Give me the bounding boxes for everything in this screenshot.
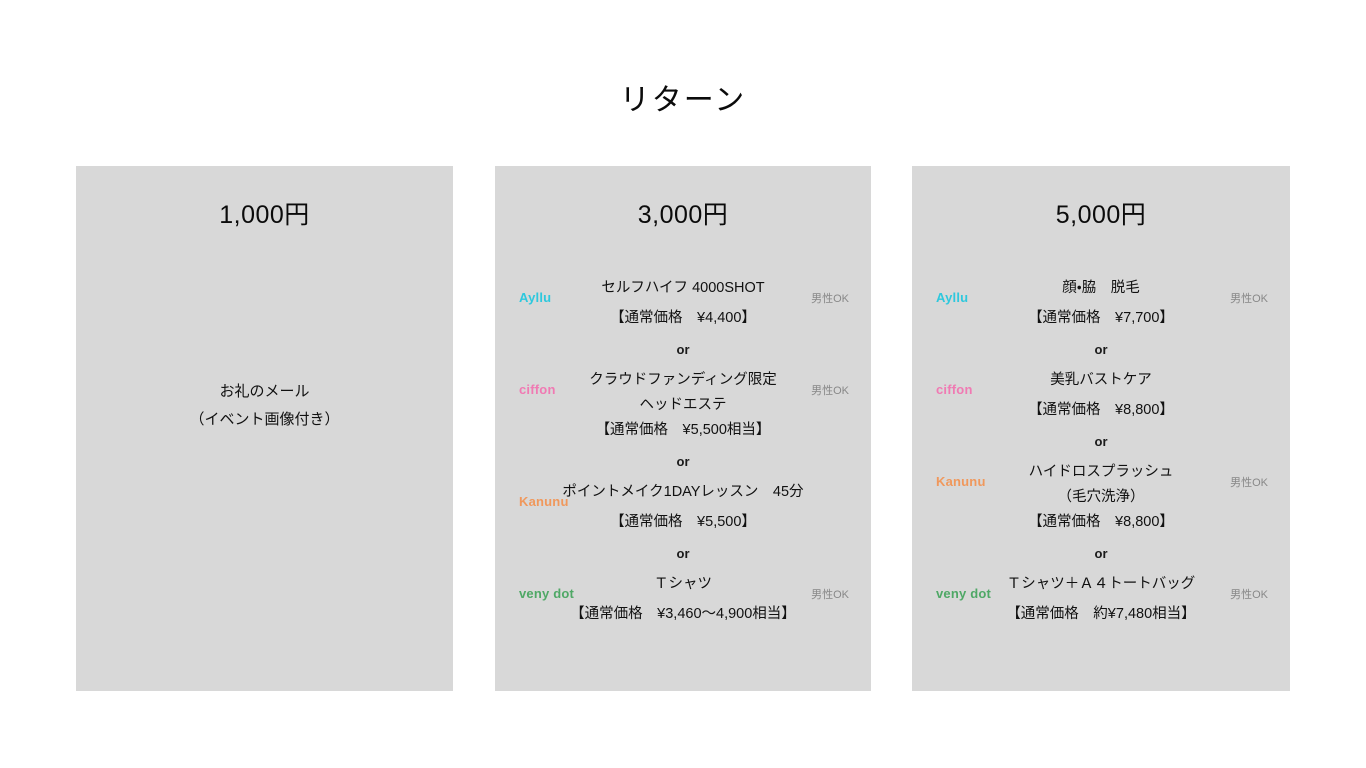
reward-title: ポイントメイク1DAYレッスン 45分 — [544, 480, 822, 505]
brand-label: ciffon — [936, 382, 973, 397]
reward-item: Ayllu男性OK顔・脇 脱毛【通常価格 ¥7,700】 — [922, 276, 1280, 331]
reward-title-line: セルフハイフ 4000SHOT — [544, 276, 822, 301]
brand-label: Kanunu — [519, 494, 569, 509]
reward-row: Ayllu男性OK顔・脇 脱毛 — [922, 276, 1280, 306]
reward-card-1000: 1,000円 お礼のメール （イベント画像付き） — [76, 166, 453, 691]
card-simple-body: お礼のメール （イベント画像付き） — [76, 378, 453, 434]
reward-price: 【通常価格 ¥3,460〜4,900相当】 — [505, 602, 861, 627]
reward-title-line: クラウドファンディング限定 — [544, 368, 822, 393]
reward-card-3000: 3,000円 Ayllu男性OKセルフハイフ 4000SHOT【通常価格 ¥4,… — [495, 166, 871, 691]
reward-price: 【通常価格 ¥8,800】 — [922, 510, 1280, 535]
or-separator: or — [922, 340, 1280, 360]
brand-label: Kanunu — [936, 474, 986, 489]
reward-row: ciffon男性OKクラウドファンディング限定ヘッドエステ — [505, 368, 861, 418]
card-amount: 1,000円 — [76, 198, 453, 232]
or-separator: or — [922, 544, 1280, 564]
male-ok-badge: 男性OK — [811, 290, 849, 306]
reward-price: 【通常価格 ¥5,500相当】 — [505, 418, 861, 443]
reward-title: 美乳バストケア — [961, 368, 1240, 393]
reward-title-line: （毛穴洗浄） — [961, 485, 1240, 510]
reward-price: 【通常価格 ¥5,500】 — [505, 510, 861, 535]
page-title: リターン — [0, 80, 1366, 122]
reward-title-line: Ｔシャツ — [544, 572, 822, 597]
male-ok-badge: 男性OK — [1230, 586, 1268, 602]
brand-label: Ayllu — [519, 290, 551, 305]
reward-row: veny dot男性OKＴシャツ＋Ａ４トートバッグ — [922, 572, 1280, 602]
brand-label: Ayllu — [936, 290, 968, 305]
reward-title: Ｔシャツ — [544, 572, 822, 597]
reward-item: ciffon美乳バストケア【通常価格 ¥8,800】 — [922, 368, 1280, 423]
reward-title-line: 顔・脇 脱毛 — [961, 276, 1240, 301]
reward-item: veny dot男性OKＴシャツ＋Ａ４トートバッグ【通常価格 約¥7,480相当… — [922, 572, 1280, 627]
reward-row: Kanunuポイントメイク1DAYレッスン 45分 — [505, 480, 861, 510]
simple-line: お礼のメール — [76, 378, 453, 406]
male-ok-badge: 男性OK — [1230, 290, 1268, 306]
reward-title-line: 美乳バストケア — [961, 368, 1240, 393]
male-ok-badge: 男性OK — [811, 586, 849, 602]
male-ok-badge: 男性OK — [1230, 474, 1268, 490]
reward-title-line: ハイドロスプラッシュ — [961, 460, 1240, 485]
reward-price: 【通常価格 ¥8,800】 — [922, 398, 1280, 423]
reward-price: 【通常価格 ¥4,400】 — [505, 306, 861, 331]
brand-label: veny dot — [519, 586, 574, 601]
or-separator: or — [505, 340, 861, 360]
reward-price: 【通常価格 約¥7,480相当】 — [922, 602, 1280, 627]
reward-item: Kanunuポイントメイク1DAYレッスン 45分【通常価格 ¥5,500】 — [505, 480, 861, 535]
card-amount: 3,000円 — [495, 198, 871, 232]
reward-row: ciffon美乳バストケア — [922, 368, 1280, 398]
reward-row: Ayllu男性OKセルフハイフ 4000SHOT — [505, 276, 861, 306]
reward-title: 顔・脇 脱毛 — [961, 276, 1240, 301]
reward-item: Kanunu男性OKハイドロスプラッシュ（毛穴洗浄）【通常価格 ¥8,800】 — [922, 460, 1280, 535]
reward-price: 【通常価格 ¥7,700】 — [922, 306, 1280, 331]
simple-line: （イベント画像付き） — [76, 406, 453, 434]
male-ok-badge: 男性OK — [811, 382, 849, 398]
reward-title-line: Ｔシャツ＋Ａ４トートバッグ — [961, 572, 1240, 597]
reward-title: セルフハイフ 4000SHOT — [544, 276, 822, 301]
reward-cards-container: 1,000円 お礼のメール （イベント画像付き） 3,000円 Ayllu男性O… — [0, 166, 1366, 691]
or-separator: or — [505, 452, 861, 472]
reward-title-line: ポイントメイク1DAYレッスン 45分 — [544, 480, 822, 505]
reward-title: Ｔシャツ＋Ａ４トートバッグ — [961, 572, 1240, 597]
brand-label: ciffon — [519, 382, 556, 397]
card-amount: 5,000円 — [912, 198, 1290, 232]
reward-title-line: ヘッドエステ — [544, 393, 822, 418]
reward-list: Ayllu男性OK顔・脇 脱毛【通常価格 ¥7,700】orciffon美乳バス… — [912, 276, 1290, 627]
reward-card-5000: 5,000円 Ayllu男性OK顔・脇 脱毛【通常価格 ¥7,700】orcif… — [912, 166, 1290, 691]
brand-label: veny dot — [936, 586, 991, 601]
or-separator: or — [505, 544, 861, 564]
reward-list: Ayllu男性OKセルフハイフ 4000SHOT【通常価格 ¥4,400】orc… — [495, 276, 871, 627]
reward-row: Kanunu男性OKハイドロスプラッシュ（毛穴洗浄） — [922, 460, 1280, 510]
reward-title: クラウドファンディング限定ヘッドエステ — [544, 368, 822, 418]
reward-title: ハイドロスプラッシュ（毛穴洗浄） — [961, 460, 1240, 510]
reward-row: veny dot男性OKＴシャツ — [505, 572, 861, 602]
reward-item: veny dot男性OKＴシャツ【通常価格 ¥3,460〜4,900相当】 — [505, 572, 861, 627]
or-separator: or — [922, 432, 1280, 452]
reward-item: Ayllu男性OKセルフハイフ 4000SHOT【通常価格 ¥4,400】 — [505, 276, 861, 331]
reward-item: ciffon男性OKクラウドファンディング限定ヘッドエステ【通常価格 ¥5,50… — [505, 368, 861, 443]
